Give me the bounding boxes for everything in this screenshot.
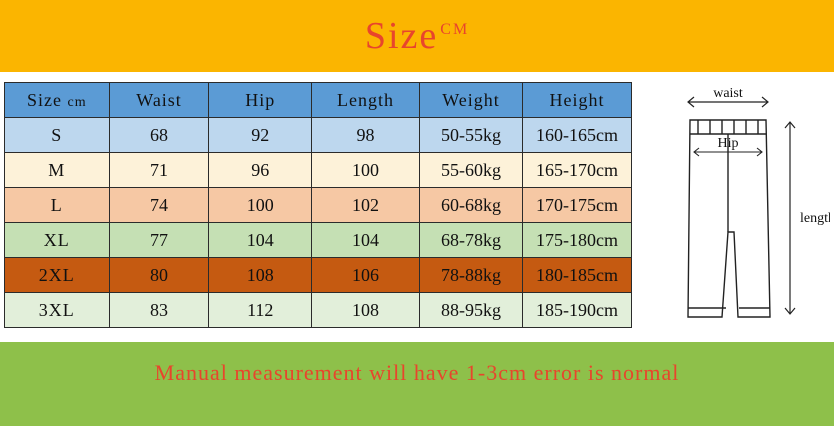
table-body: S 68 92 98 50-55kg 160-165cm M 71 96 100…: [5, 118, 632, 328]
cell-size: L: [5, 188, 110, 223]
size-chart-page: SizeCM Size cm Waist Hip Length Weight H…: [0, 0, 834, 426]
cell-length: 104: [312, 223, 420, 258]
pants-diagram: waist Hip length: [640, 82, 830, 332]
title-band: SizeCM: [0, 0, 834, 72]
cell-height: 170-175cm: [523, 188, 632, 223]
cell-waist: 80: [109, 258, 209, 293]
header-height: Height: [523, 83, 632, 118]
header-size-unit: cm: [67, 95, 86, 110]
header-size: Size cm: [5, 83, 110, 118]
header-waist: Waist: [109, 83, 209, 118]
cell-size: M: [5, 153, 110, 188]
content-area: Size cm Waist Hip Length Weight Height S…: [0, 72, 834, 342]
cell-length: 100: [312, 153, 420, 188]
cell-hip: 92: [209, 118, 312, 153]
pants-illustration-svg: waist Hip length: [640, 82, 830, 332]
page-title-unit: CM: [440, 21, 469, 38]
cell-waist: 68: [109, 118, 209, 153]
cell-size: 3XL: [5, 293, 110, 328]
header-size-label: Size: [27, 90, 62, 110]
length-arrow-icon: [785, 122, 795, 314]
table-row: XL 77 104 104 68-78kg 175-180cm: [5, 223, 632, 258]
cell-weight: 68-78kg: [419, 223, 522, 258]
table-row: 3XL 83 112 108 88-95kg 185-190cm: [5, 293, 632, 328]
cell-hip: 108: [209, 258, 312, 293]
cell-weight: 78-88kg: [419, 258, 522, 293]
cell-size: XL: [5, 223, 110, 258]
header-weight: Weight: [419, 83, 522, 118]
page-title-text: Size: [365, 15, 438, 57]
cell-size: S: [5, 118, 110, 153]
hip-label: Hip: [718, 136, 739, 151]
cell-waist: 83: [109, 293, 209, 328]
table-row: M 71 96 100 55-60kg 165-170cm: [5, 153, 632, 188]
cell-size: 2XL: [5, 258, 110, 293]
header-hip: Hip: [209, 83, 312, 118]
cell-height: 175-180cm: [523, 223, 632, 258]
header-length: Length: [312, 83, 420, 118]
cell-hip: 100: [209, 188, 312, 223]
cell-height: 185-190cm: [523, 293, 632, 328]
table-row: S 68 92 98 50-55kg 160-165cm: [5, 118, 632, 153]
cell-length: 108: [312, 293, 420, 328]
footer-band: Manual measurement will have 1-3cm error…: [0, 342, 834, 426]
cell-height: 165-170cm: [523, 153, 632, 188]
cell-hip: 112: [209, 293, 312, 328]
waist-label: waist: [713, 86, 743, 101]
cell-hip: 96: [209, 153, 312, 188]
cell-height: 180-185cm: [523, 258, 632, 293]
cell-length: 102: [312, 188, 420, 223]
cell-length: 98: [312, 118, 420, 153]
table-header-row: Size cm Waist Hip Length Weight Height: [5, 83, 632, 118]
page-title: SizeCM: [365, 14, 469, 58]
cell-weight: 50-55kg: [419, 118, 522, 153]
table-header: Size cm Waist Hip Length Weight Height: [5, 83, 632, 118]
cell-weight: 60-68kg: [419, 188, 522, 223]
cell-waist: 77: [109, 223, 209, 258]
table-row: L 74 100 102 60-68kg 170-175cm: [5, 188, 632, 223]
cell-weight: 55-60kg: [419, 153, 522, 188]
cell-waist: 74: [109, 188, 209, 223]
table-row: 2XL 80 108 106 78-88kg 180-185cm: [5, 258, 632, 293]
measurement-note: Manual measurement will have 1-3cm error…: [155, 360, 680, 386]
cell-waist: 71: [109, 153, 209, 188]
length-label: length: [800, 211, 830, 226]
cell-length: 106: [312, 258, 420, 293]
size-table: Size cm Waist Hip Length Weight Height S…: [4, 82, 632, 328]
cell-height: 160-165cm: [523, 118, 632, 153]
cell-hip: 104: [209, 223, 312, 258]
cell-weight: 88-95kg: [419, 293, 522, 328]
